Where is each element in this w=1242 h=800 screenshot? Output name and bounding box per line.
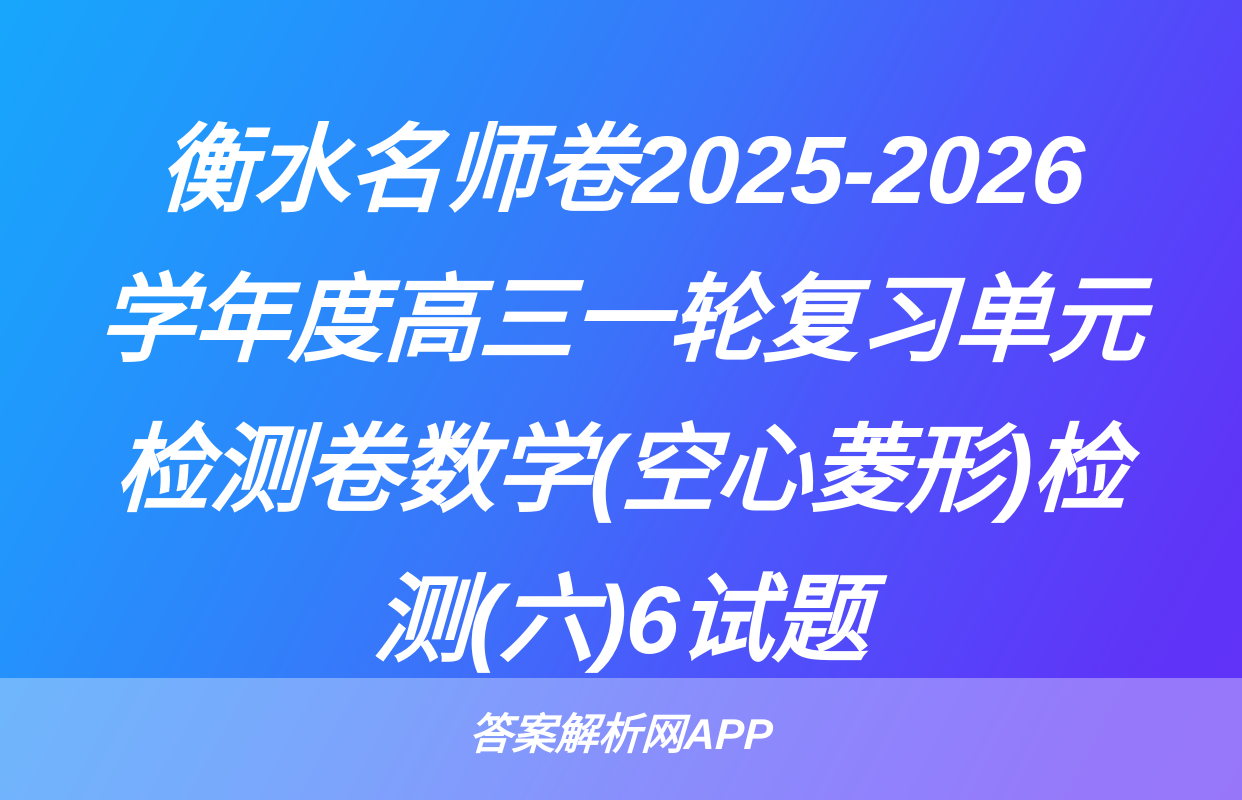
title-line-3: 检测卷数学(空心菱形)检: [55, 396, 1186, 546]
title-line-2: 学年度高三一轮复习单元: [55, 246, 1186, 396]
title-line-4: 测(六)6试题: [55, 546, 1186, 696]
title-card: 衡水名师卷2025-2026 学年度高三一轮复习单元 检测卷数学(空心菱形)检 …: [0, 0, 1242, 800]
page-title: 衡水名师卷2025-2026 学年度高三一轮复习单元 检测卷数学(空心菱形)检 …: [0, 96, 1242, 696]
watermark-label: 答案解析网APP: [0, 706, 1242, 764]
title-line-1: 衡水名师卷2025-2026: [55, 96, 1186, 246]
